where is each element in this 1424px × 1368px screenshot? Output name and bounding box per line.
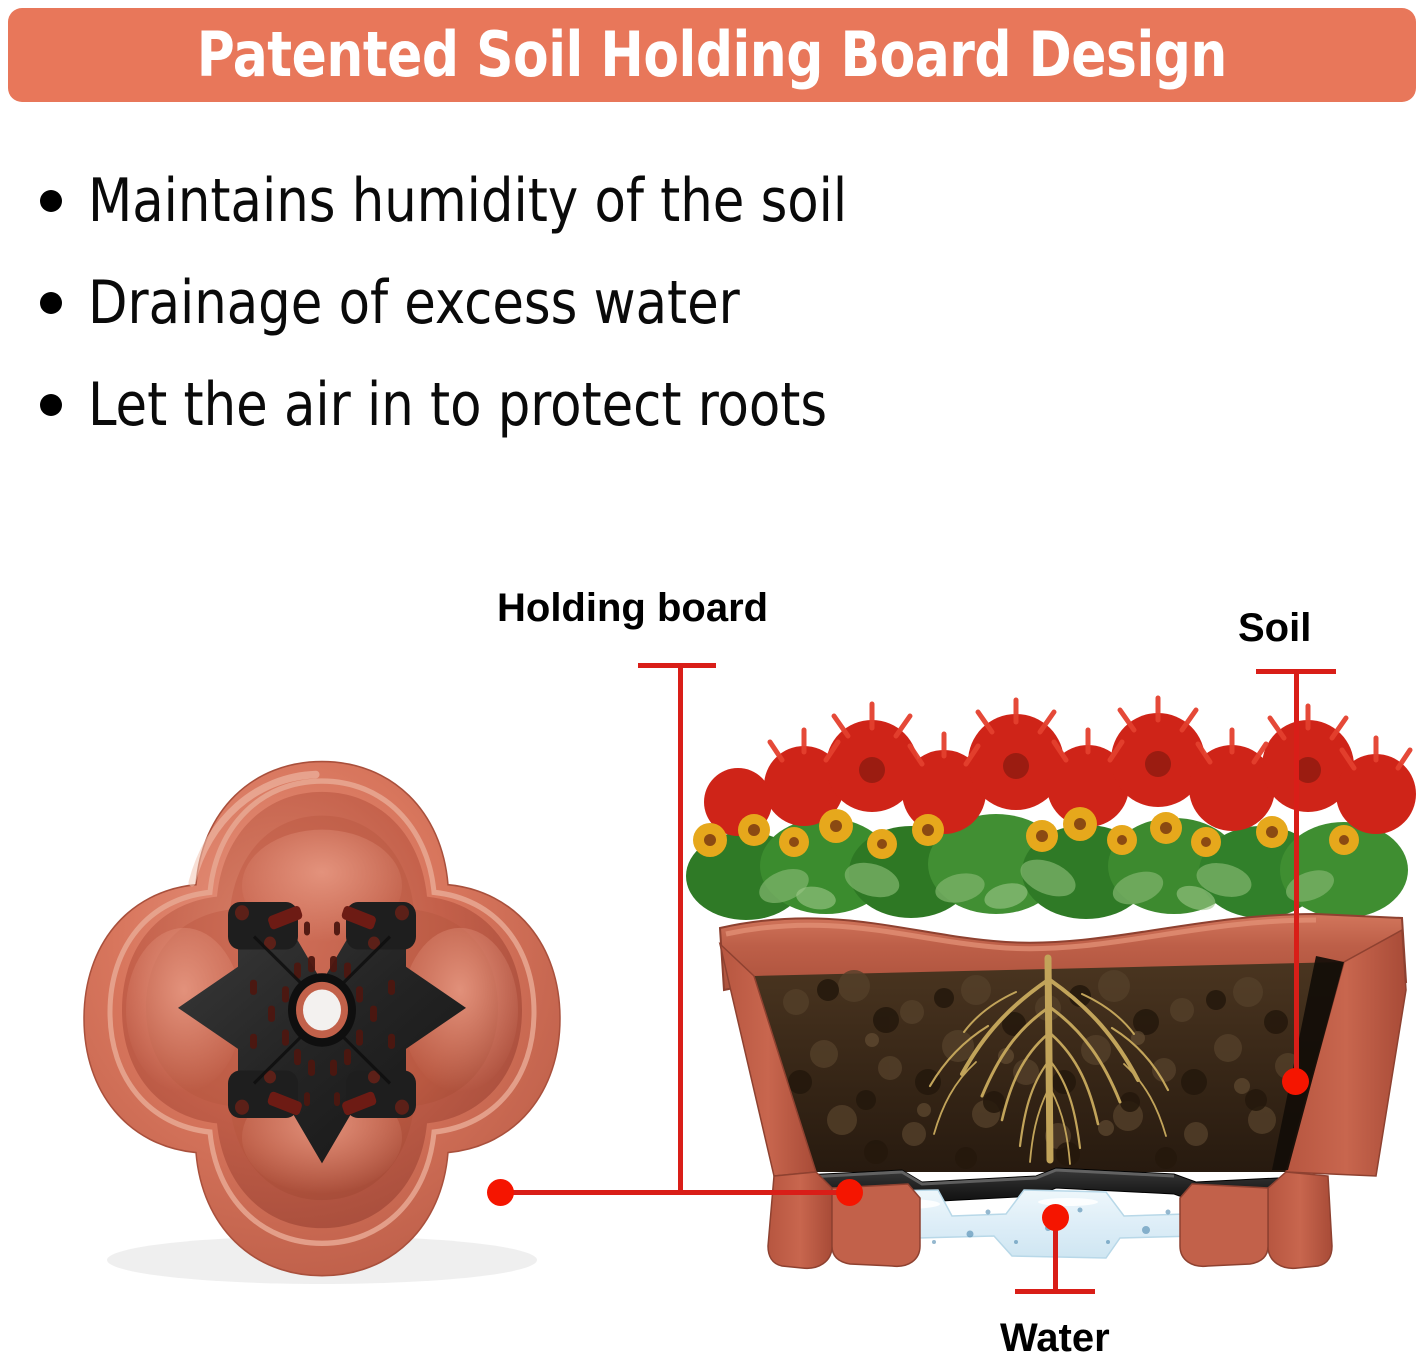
holding-board-leader-stem: [678, 663, 683, 1190]
foot-right-inner: [1180, 1184, 1268, 1266]
bullet-icon: [40, 394, 62, 416]
callout-label-holding-board: Holding board: [497, 588, 768, 628]
red-flowers: [704, 698, 1416, 836]
feature-text: Let the air in to protect roots: [88, 375, 827, 435]
page-title: Patented Soil Holding Board Design: [197, 24, 1227, 86]
callout-label-soil: Soil: [1238, 608, 1311, 648]
feature-list: Maintains humidity of the soil Drainage …: [40, 150, 1140, 456]
water-marker: [1042, 1204, 1069, 1231]
bullet-icon: [40, 190, 62, 212]
feature-text: Maintains humidity of the soil: [88, 171, 847, 231]
soil-marker: [1282, 1068, 1309, 1095]
bullet-icon: [40, 292, 62, 314]
list-item: Drainage of excess water: [40, 252, 1140, 354]
feature-text: Drainage of excess water: [88, 273, 740, 333]
foot-right-outer: [1268, 1172, 1332, 1268]
clover-planter-top-view-image: [42, 700, 602, 1300]
plant-foliage: [686, 698, 1416, 920]
holding-board-marker-right: [836, 1179, 863, 1206]
foot-left-outer: [768, 1172, 832, 1268]
holding-board-marker-left: [487, 1179, 514, 1206]
infographic-page: Patented Soil Holding Board Design Maint…: [0, 0, 1424, 1368]
soil-layer: [754, 958, 1344, 1172]
soil-leader-stem: [1294, 669, 1299, 1085]
header-banner: Patented Soil Holding Board Design: [8, 8, 1416, 102]
water-leader-tbar: [1015, 1289, 1095, 1294]
holding-board-leader-tbar: [638, 663, 716, 668]
list-item: Maintains humidity of the soil: [40, 150, 1140, 252]
callout-label-water: Water: [1000, 1318, 1110, 1358]
planter-cross-section-image: [676, 690, 1424, 1290]
center-drain-hole: [303, 989, 341, 1030]
holding-board-leader-hline: [500, 1190, 850, 1195]
list-item: Let the air in to protect roots: [40, 354, 1140, 456]
